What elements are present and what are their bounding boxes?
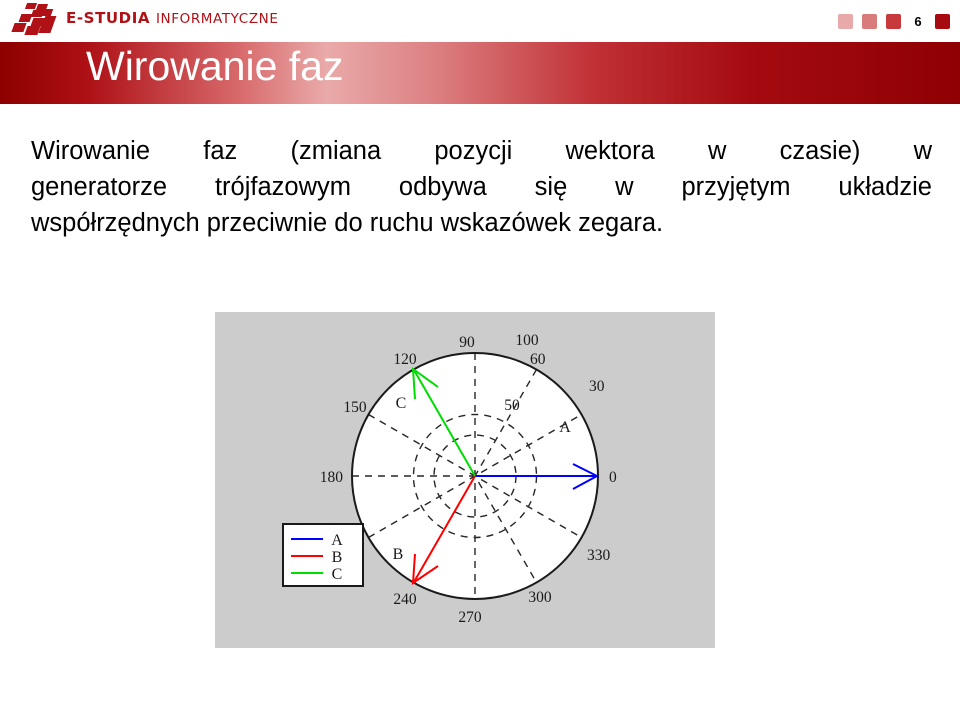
paragraph-line-1: Wirowanie faz (zmiana pozycji wektora w … bbox=[31, 133, 932, 169]
paragraph-line-2: generatorze trójfazowym odbywa się w prz… bbox=[31, 169, 932, 205]
phasor-a-annotation: A bbox=[559, 419, 571, 436]
logo-wordmark: E-STUDIA INFORMATYCZNE bbox=[66, 9, 279, 27]
paragraph-line-3: współrzędnych przeciwnie do ruchu wskazó… bbox=[31, 205, 932, 241]
r-label-50: 50 bbox=[504, 397, 520, 414]
legend-label-b: B bbox=[332, 549, 343, 566]
theta-label-300: 300 bbox=[528, 589, 552, 606]
phasor-c-annotation: C bbox=[396, 395, 407, 412]
pager-square-1 bbox=[838, 14, 853, 29]
page-title: Wirowanie faz bbox=[86, 46, 343, 87]
body-paragraph: Wirowanie faz (zmiana pozycji wektora w … bbox=[31, 133, 932, 241]
theta-label-120: 120 bbox=[393, 351, 417, 368]
legend-label-c: C bbox=[332, 566, 343, 583]
theta-label-330: 330 bbox=[587, 547, 611, 564]
polar-plot-svg: 0 30 60 90 120 150 180 240 270 300 330 5… bbox=[215, 312, 715, 648]
pager-square-4 bbox=[935, 14, 950, 29]
theta-label-30: 30 bbox=[589, 378, 605, 395]
legend-label-a: A bbox=[331, 532, 343, 549]
page-number: 6 bbox=[910, 14, 926, 29]
r-label-100: 100 bbox=[515, 332, 539, 349]
phasor-b-annotation: B bbox=[393, 546, 404, 563]
theta-label-240: 240 bbox=[393, 591, 417, 608]
polar-plot-figure: 0 30 60 90 120 150 180 240 270 300 330 5… bbox=[215, 312, 715, 648]
pager-square-3 bbox=[886, 14, 901, 29]
polar-plot-legend: A B C bbox=[283, 524, 363, 586]
page-indicator: 6 bbox=[838, 9, 950, 33]
theta-label-270: 270 bbox=[458, 609, 482, 626]
pager-square-2 bbox=[862, 14, 877, 29]
logo-wordmark-light: INFORMATYCZNE bbox=[156, 11, 279, 27]
theta-label-90: 90 bbox=[459, 334, 475, 351]
theta-label-150: 150 bbox=[343, 399, 367, 416]
header-strip: E-STUDIA INFORMATYCZNE 6 bbox=[0, 0, 960, 42]
estudia-tiles-logo-icon bbox=[8, 3, 62, 37]
theta-label-0: 0 bbox=[609, 469, 617, 486]
logo-wordmark-bold: E-STUDIA bbox=[66, 9, 156, 27]
theta-label-60: 60 bbox=[530, 351, 546, 368]
theta-label-180: 180 bbox=[320, 469, 344, 486]
